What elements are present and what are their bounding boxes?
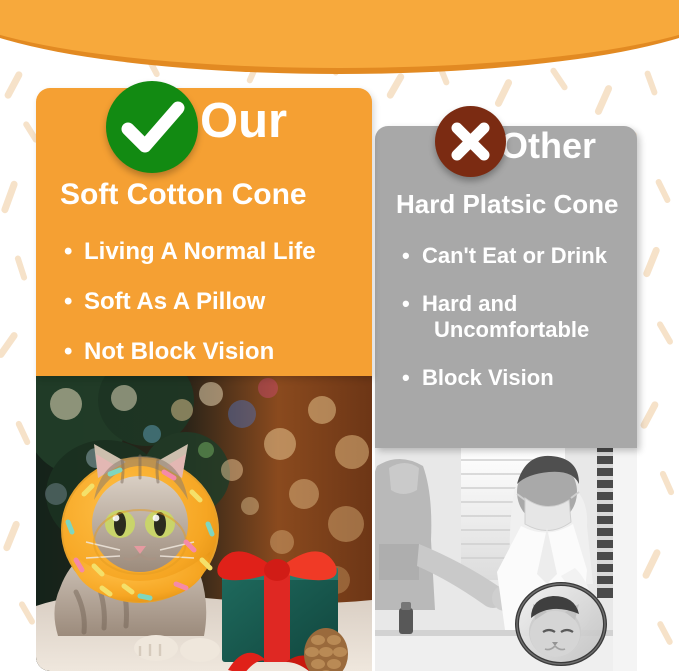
- other-heading: Other: [500, 128, 596, 164]
- other-bullet-text: Can't Eat or Drink: [422, 243, 607, 268]
- infographic-canvas: More Care More Love: [0, 0, 679, 671]
- our-bullet-text: Living A Normal Life: [84, 238, 316, 265]
- list-item: Can't Eat or Drink: [402, 243, 607, 269]
- list-item: Soft As A Pillow: [64, 288, 316, 316]
- other-bullet-text-line2: Uncomfortable: [422, 317, 607, 343]
- our-photo-cat-donut-cone: [36, 374, 372, 671]
- list-item: Living A Normal Life: [64, 238, 316, 266]
- our-bullet-text: Soft As A Pillow: [84, 288, 265, 315]
- other-bullet-text: Hard and: [422, 291, 517, 316]
- other-bullet-text: Block Vision: [422, 365, 554, 390]
- our-heading: Our: [200, 97, 287, 146]
- our-subheading: Soft Cotton Cone: [60, 178, 307, 211]
- header-banner: [0, 0, 679, 74]
- our-benefit-list: Living A Normal Life Soft As A Pillow No…: [64, 238, 316, 388]
- other-benefit-list: Can't Eat or Drink Hard andUncomfortable…: [402, 243, 607, 413]
- other-photo-vet-clinic: [375, 448, 637, 671]
- list-item: Block Vision: [402, 365, 607, 391]
- list-item: Not Block Vision: [64, 338, 316, 366]
- list-item: Hard andUncomfortable: [402, 291, 607, 343]
- x-circle-icon: [435, 106, 506, 177]
- check-circle-icon: [106, 81, 198, 173]
- other-subheading: Hard Platsic Cone: [396, 190, 619, 219]
- our-bullet-text: Not Block Vision: [84, 338, 274, 365]
